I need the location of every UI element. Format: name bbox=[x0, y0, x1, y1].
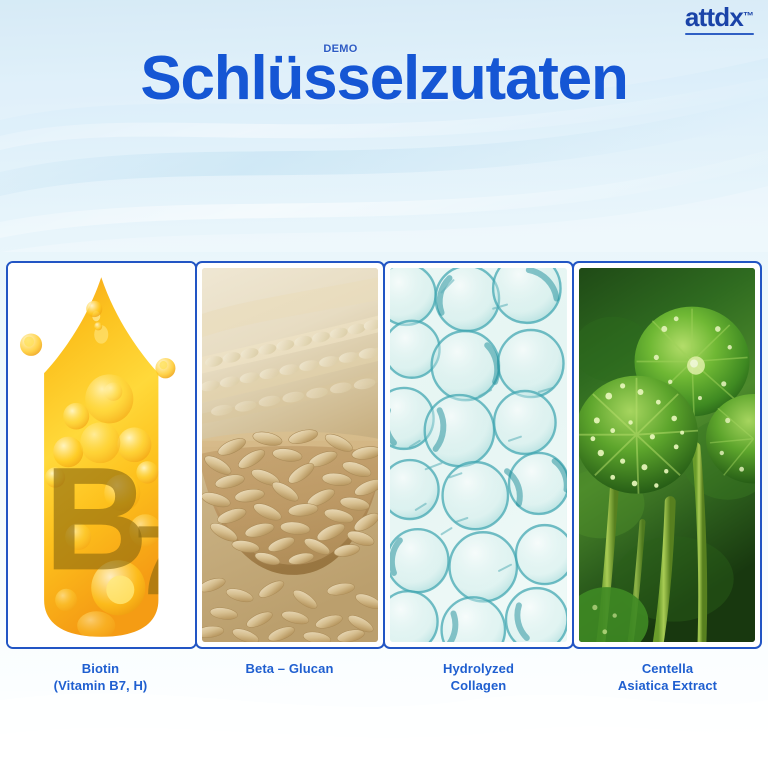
label-line-1: Centella bbox=[642, 661, 693, 676]
svg-text:B: B bbox=[44, 436, 148, 600]
ingredient-label-centella-asiatica: Centella Asiatica Extract bbox=[573, 660, 762, 694]
ingredient-label-biotin: Biotin (Vitamin B7, H) bbox=[6, 660, 195, 694]
ingredient-label-row: Biotin (Vitamin B7, H) Beta – Glucan Hyd… bbox=[6, 660, 762, 694]
logo-wordmark: attdx™ bbox=[685, 4, 754, 30]
ingredient-card-biotin[interactable]: B 7 bbox=[6, 261, 197, 649]
ingredient-card-centella-asiatica[interactable] bbox=[572, 261, 763, 649]
label-line-1: Beta – Glucan bbox=[246, 661, 334, 676]
ingredient-label-hydrolyzed-collagen: Hydrolyzed Collagen bbox=[384, 660, 573, 694]
logo-text: attdx bbox=[685, 2, 743, 32]
brand-logo[interactable]: attdx™ bbox=[685, 4, 754, 35]
demo-watermark: DEMO bbox=[323, 44, 357, 56]
page-title-text: Schlüsselzutaten bbox=[140, 44, 627, 113]
label-line-1: Hydrolyzed bbox=[443, 661, 514, 676]
centella-leaves-image bbox=[579, 268, 756, 642]
label-line-2: (Vitamin B7, H) bbox=[12, 677, 189, 694]
label-line-2: Asiatica Extract bbox=[579, 677, 756, 694]
oat-grains-bowl-image bbox=[202, 268, 379, 642]
svg-text:7: 7 bbox=[134, 505, 188, 615]
page-title: Schlüsselzutaten DEMO bbox=[140, 46, 627, 111]
ingredient-label-beta-glucan: Beta – Glucan bbox=[195, 660, 384, 694]
label-line-2: Collagen bbox=[390, 677, 567, 694]
page-title-container: Schlüsselzutaten DEMO bbox=[0, 46, 768, 111]
logo-underline bbox=[685, 33, 754, 35]
trademark-symbol: ™ bbox=[743, 11, 754, 23]
golden-vitamin-droplet-image: B 7 bbox=[8, 263, 195, 647]
collagen-spheres-image bbox=[390, 268, 567, 642]
label-line-1: Biotin bbox=[82, 661, 119, 676]
poster-canvas: attdx™ Schlüsselzutaten DEMO bbox=[0, 0, 768, 768]
ingredient-card-beta-glucan[interactable] bbox=[195, 261, 386, 649]
ingredient-card-row: B 7 bbox=[6, 261, 762, 649]
ingredient-card-hydrolyzed-collagen[interactable] bbox=[383, 261, 574, 649]
